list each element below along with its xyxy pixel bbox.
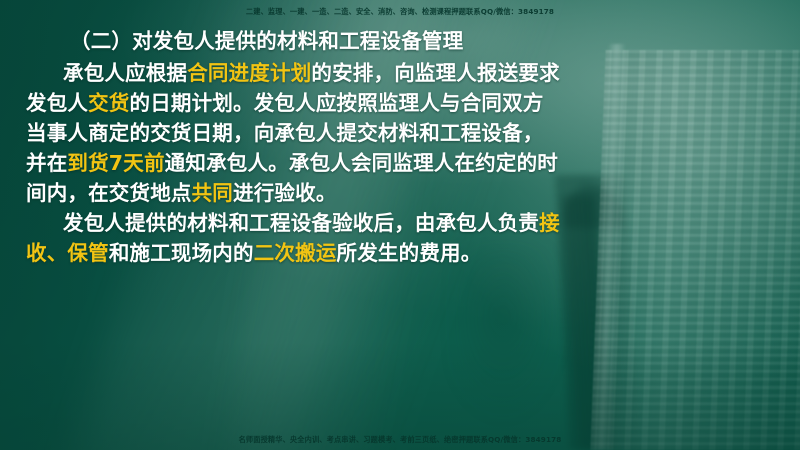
body-text: 通知承包人。承包人会同监理人在约定的时 [165, 151, 558, 175]
body-text: 和施工现场内的 [109, 241, 254, 265]
body-text: 的安排，向监理人报送要求 [311, 61, 559, 85]
presentation-slide: 二建、监理、一建、一造、二造、安全、消防、咨询、检测课程押题联系QQ/微信：38… [0, 0, 800, 450]
paragraph-line: 收、保管和施工现场内的二次搬运所发生的费用。 [0, 238, 800, 268]
body-text: 当事人商定的交货日期，向承包人提交材料和工程设备， [26, 121, 544, 145]
bottom-promo-banner: 名师面授精华、央全内训、考点串讲、习题模考、考前三页纸、绝密押题联系QQ/微信：… [0, 435, 800, 445]
highlighted-text: 共同 [192, 181, 233, 205]
paragraph-line: 间内，在交货地点共同进行验收。 [0, 178, 800, 208]
body-text: 进行验收。 [233, 181, 337, 205]
body-text: 间内，在交货地点 [26, 181, 192, 205]
body-text: 承包人应根据 [63, 61, 187, 85]
paragraph-line: 发包人交货的日期计划。发包人应按照监理人与合同双方 [0, 88, 800, 118]
body-text: 发包人提供的材料和工程设备验收后，由承包人负责 [63, 211, 539, 235]
highlighted-text: 交货 [88, 91, 129, 115]
highlighted-text: 合同进度计划 [187, 61, 311, 85]
paragraph-line: 承包人应根据合同进度计划的安排，向监理人报送要求 [0, 58, 800, 88]
paragraph-line: 当事人商定的交货日期，向承包人提交材料和工程设备， [0, 118, 800, 148]
paragraph-list: 承包人应根据合同进度计划的安排，向监理人报送要求发包人交货的日期计划。发包人应按… [0, 58, 800, 268]
body-text: 的日期计划。发包人应按照监理人与合同双方 [130, 91, 544, 115]
paragraph-line: 并在到货7天前通知承包人。承包人会同监理人在约定的时 [0, 148, 800, 178]
slide-body: （二）对发包人提供的材料和工程设备管理 承包人应根据合同进度计划的安排，向监理人… [0, 26, 800, 268]
highlighted-text: 二次搬运 [254, 241, 337, 265]
body-text: 发包人 [26, 91, 88, 115]
body-text: 并在 [26, 151, 67, 175]
top-promo-banner: 二建、监理、一建、一造、二造、安全、消防、咨询、检测课程押题联系QQ/微信：38… [0, 7, 800, 17]
paragraph-line: 发包人提供的材料和工程设备验收后，由承包人负责接 [0, 208, 800, 238]
page-title: （二）对发包人提供的材料和工程设备管理 [0, 26, 800, 56]
body-text: 所发生的费用。 [337, 241, 482, 265]
highlighted-text: 到货7天前 [67, 151, 164, 175]
highlighted-text: 收、保管 [26, 241, 109, 265]
highlighted-text: 接 [539, 211, 560, 235]
